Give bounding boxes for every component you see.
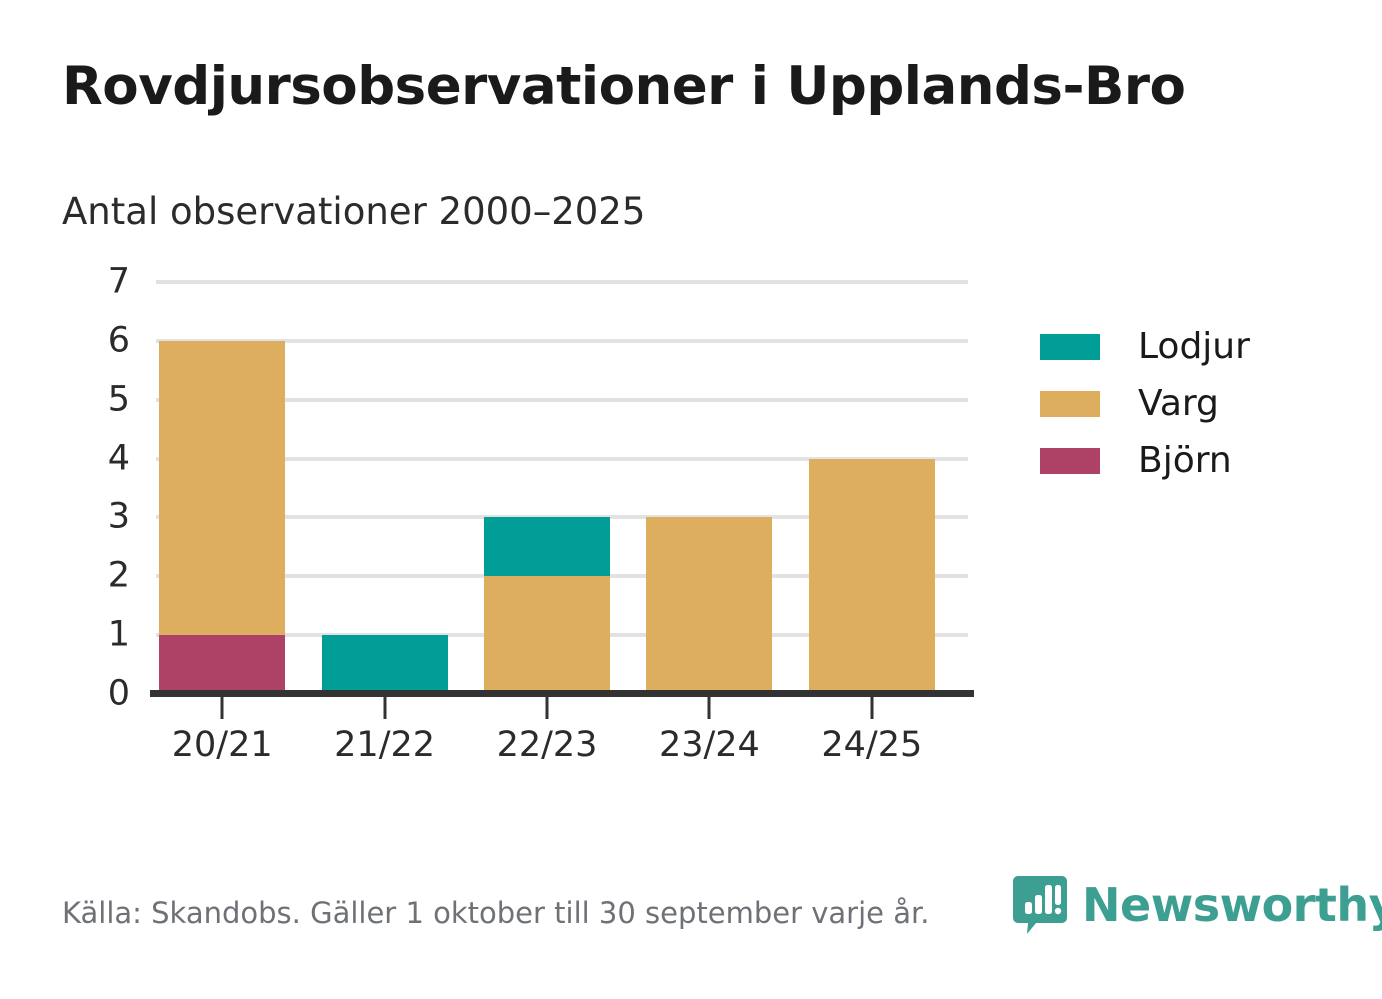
y-axis-labels: 01234567 [44, 0, 130, 999]
y-axis-tick-label: 6 [74, 323, 130, 358]
chart-page: Rovdjursobservationer i Upplands-Bro Ant… [0, 0, 1382, 999]
y-axis-tick-label: 1 [74, 618, 130, 653]
page-title: Rovdjursobservationer i Upplands-Bro [62, 58, 1185, 116]
legend-item[interactable]: Lodjur [1040, 318, 1340, 375]
bar-group[interactable] [646, 282, 772, 694]
bar-segment-varg[interactable] [809, 459, 935, 694]
y-axis-tick-label: 0 [74, 677, 130, 712]
legend-item[interactable]: Varg [1040, 375, 1340, 432]
bar-segment-björn[interactable] [159, 635, 285, 694]
x-axis-tick [870, 697, 873, 719]
bar-group[interactable] [159, 282, 285, 694]
y-axis-tick-label: 7 [74, 265, 130, 300]
y-axis-tick-label: 4 [74, 441, 130, 476]
bar-group[interactable] [809, 282, 935, 694]
bar-segment-varg[interactable] [484, 576, 610, 694]
bar-segment-lodjur[interactable] [484, 517, 610, 576]
chart-legend: LodjurVargBjörn [1040, 318, 1340, 489]
x-axis-tick-label: 24/25 [821, 726, 922, 765]
y-axis-tick-label: 5 [74, 382, 130, 417]
x-axis-tick-label: 20/21 [172, 726, 273, 765]
legend-label: Björn [1138, 443, 1232, 479]
x-axis-tick [221, 697, 224, 719]
newsworthy-logo[interactable]: Newsworthy [1012, 872, 1382, 938]
source-note: Källa: Skandobs. Gäller 1 oktober till 3… [62, 896, 929, 931]
chart-subtitle: Antal observationer 2000–2025 [62, 192, 645, 233]
x-axis-tick [383, 697, 386, 719]
x-axis-tick-label: 23/24 [659, 726, 760, 765]
brand-name: Newsworthy [1082, 882, 1382, 928]
x-axis-line [150, 690, 974, 697]
x-axis-tick [546, 697, 549, 719]
y-axis-tick-label: 2 [74, 559, 130, 594]
legend-label: Lodjur [1138, 329, 1250, 365]
bar-segment-varg[interactable] [646, 517, 772, 694]
bar-chart-speech-bubble-icon [1012, 874, 1068, 936]
bar-segment-varg[interactable] [159, 341, 285, 635]
x-axis-ticks [156, 697, 968, 727]
bar-series-container [156, 282, 968, 694]
x-axis-tick-label: 21/22 [334, 726, 435, 765]
legend-swatch [1040, 391, 1100, 417]
bar-group[interactable] [322, 282, 448, 694]
legend-swatch [1040, 334, 1100, 360]
y-axis-tick-label: 3 [74, 500, 130, 535]
x-axis-labels: 20/2121/2222/2323/2424/25 [156, 726, 968, 776]
x-axis-tick-label: 22/23 [497, 726, 598, 765]
legend-swatch [1040, 448, 1100, 474]
legend-label: Varg [1138, 386, 1219, 422]
x-axis-tick [708, 697, 711, 719]
legend-item[interactable]: Björn [1040, 432, 1340, 489]
bar-group[interactable] [484, 282, 610, 694]
bar-segment-lodjur[interactable] [322, 635, 448, 694]
